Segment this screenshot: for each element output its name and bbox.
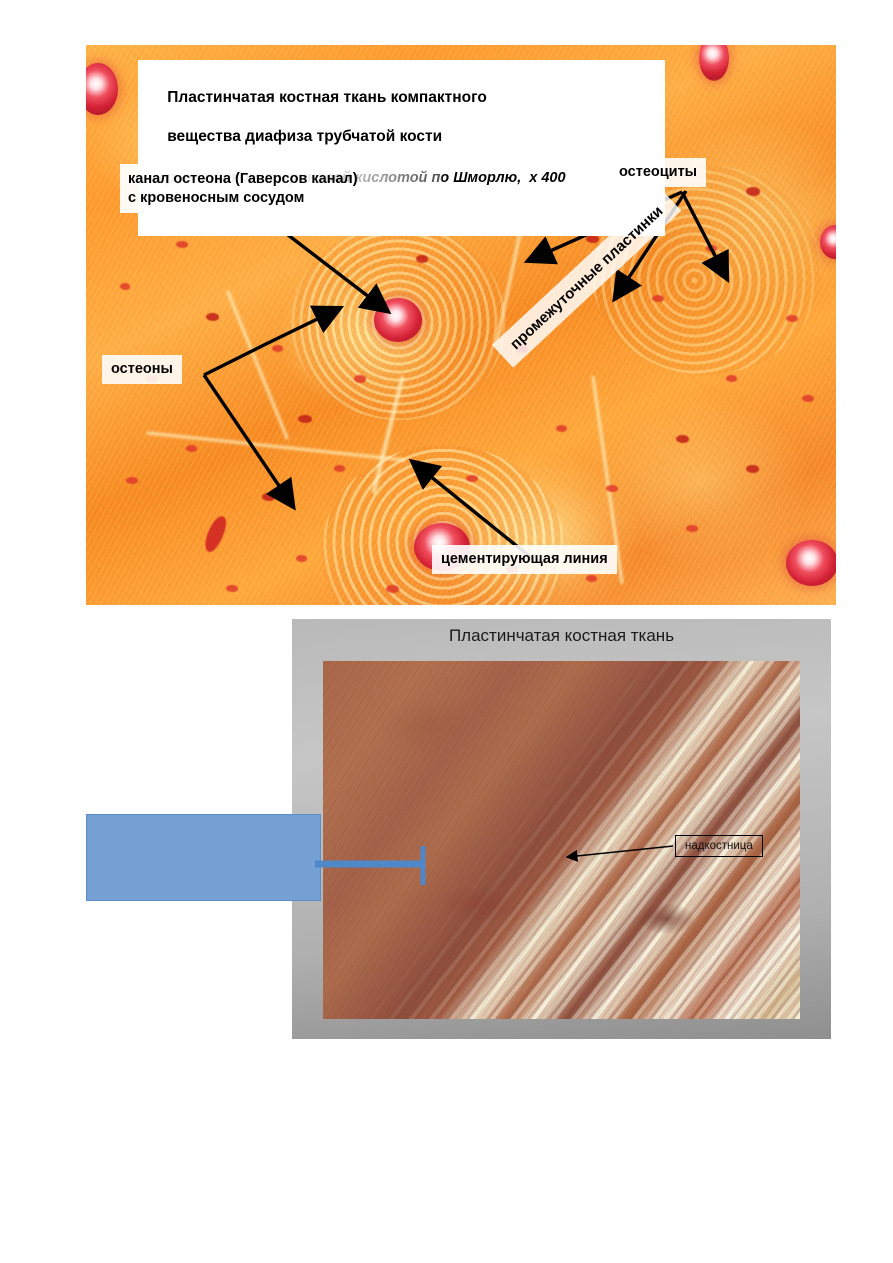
periosteum-micrograph: надкостница <box>323 661 800 1019</box>
blue-connector-arrow <box>315 845 435 887</box>
label-osteons: остеоны <box>102 355 182 384</box>
arrow-osteocyte-right <box>682 192 726 277</box>
slide1-title-line1: Пластинчатая костная ткань компактного <box>167 89 487 106</box>
label-cement-line: цементирующая линия <box>432 545 617 574</box>
slide2-title: Пластинчатая костная ткань <box>292 626 831 646</box>
label-osteocytes: остеоциты <box>610 158 706 187</box>
osteon-micrograph-slide: Пластинчатая костная ткань компактного в… <box>86 45 836 605</box>
slide1-title-line2: вещества диафиза трубчатой кости <box>167 128 442 145</box>
arrow-periosteum <box>567 846 673 857</box>
arrow-osteon-upper <box>268 309 338 343</box>
arrow-osteon-stem-upper <box>204 343 268 375</box>
arrow-osteon-lower <box>204 375 292 505</box>
label-periosteum: надкостница <box>675 835 763 857</box>
blue-callout-box[interactable] <box>86 814 321 901</box>
periosteum-slide: Пластинчатая костная ткань надкостница <box>292 619 831 1039</box>
label-haversian-canal: канал остеона (Гаверсов канал) с кровено… <box>120 164 442 213</box>
